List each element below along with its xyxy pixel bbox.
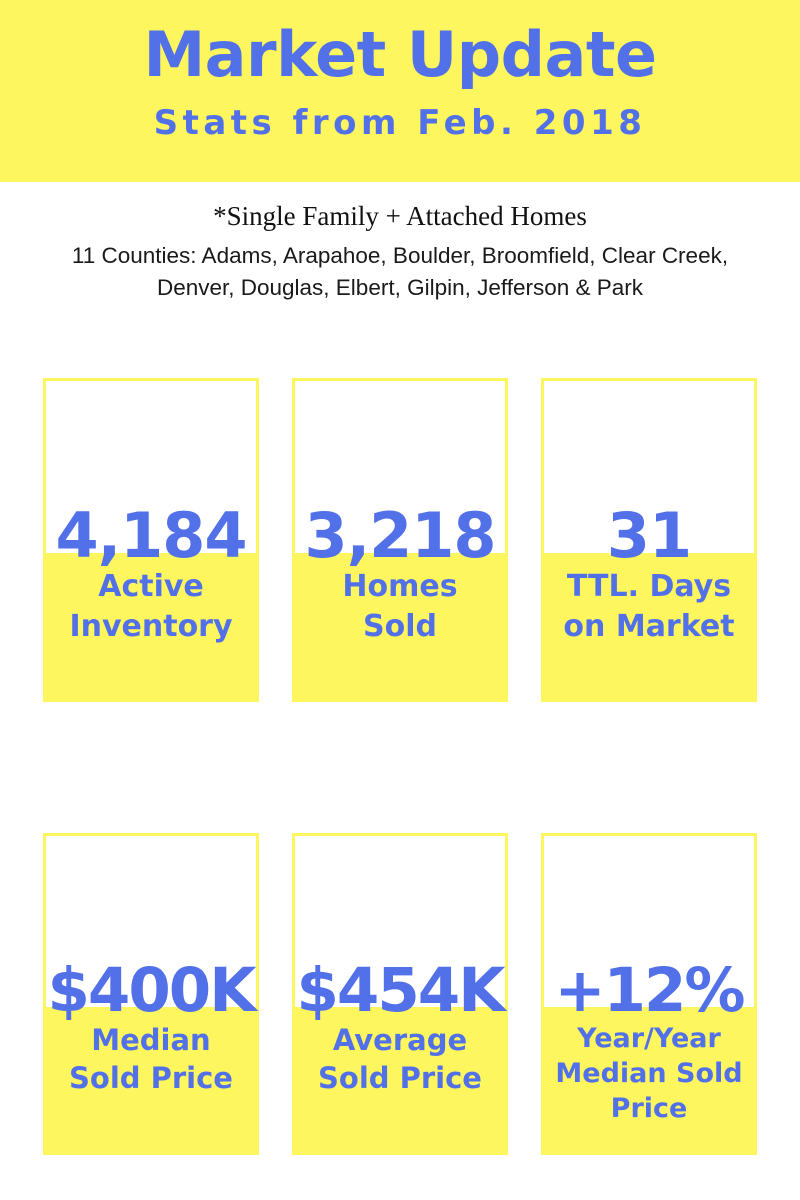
spacer-left xyxy=(0,378,43,702)
counties-note: 11 Counties: Adams, Arapahoe, Boulder, B… xyxy=(60,240,740,304)
spacer-right xyxy=(757,833,800,1155)
header-band: Market Update Stats from Feb. 2018 xyxy=(0,0,800,182)
stat-value-days-on-market: 31 xyxy=(607,505,691,567)
stat-label-panel: Median Sold Price xyxy=(43,1007,259,1155)
stat-value-yoy-median-sold-price: +12% xyxy=(554,960,743,1021)
page-subtitle: Stats from Feb. 2018 xyxy=(154,86,647,140)
spacer-middle-2 xyxy=(508,378,541,702)
stat-row-secondary: $400K Median Sold Price $454K Average So… xyxy=(0,833,800,1155)
spacer-left xyxy=(0,833,43,1155)
stat-value-panel: $454K xyxy=(292,833,508,1007)
stat-value-active-inventory: 4,184 xyxy=(55,505,246,567)
stat-row-primary: 4,184 Active Inventory 3,218 Homes Sold … xyxy=(0,378,800,702)
stat-card-days-on-market: 31 TTL. Days on Market xyxy=(541,378,757,702)
stat-value-panel: +12% xyxy=(541,833,757,1007)
stat-card-active-inventory: 4,184 Active Inventory xyxy=(43,378,259,702)
spacer-middle-1 xyxy=(259,378,292,702)
stat-label-median-sold-price: Median Sold Price xyxy=(67,1021,235,1098)
notes-block: *Single Family + Attached Homes 11 Count… xyxy=(0,200,800,304)
stat-value-panel: 4,184 xyxy=(43,378,259,553)
property-types-note: *Single Family + Attached Homes xyxy=(0,200,800,234)
stat-label-panel: TTL. Days on Market xyxy=(541,553,757,702)
stat-label-panel: Active Inventory xyxy=(43,553,259,702)
stat-label-days-on-market: TTL. Days on Market xyxy=(561,567,736,646)
stat-label-active-inventory: Active Inventory xyxy=(67,567,234,646)
stat-card-yoy-median-sold-price: +12% Year/Year Median Sold Price xyxy=(541,833,757,1155)
spacer-right xyxy=(757,378,800,702)
stat-value-panel: 31 xyxy=(541,378,757,553)
spacer-middle-1 xyxy=(259,833,292,1155)
page-title: Market Update xyxy=(143,24,656,86)
spacer-middle-2 xyxy=(508,833,541,1155)
stat-value-homes-sold: 3,218 xyxy=(304,505,495,567)
stat-label-panel: Average Sold Price xyxy=(292,1007,508,1155)
stat-card-average-sold-price: $454K Average Sold Price xyxy=(292,833,508,1155)
stat-label-panel: Year/Year Median Sold Price xyxy=(541,1007,757,1155)
stat-label-homes-sold: Homes Sold xyxy=(340,567,459,646)
stat-label-average-sold-price: Average Sold Price xyxy=(316,1021,484,1098)
stat-label-yoy-median-sold-price: Year/Year Median Sold Price xyxy=(553,1021,744,1126)
stat-value-median-sold-price: $400K xyxy=(47,960,254,1021)
stat-value-average-sold-price: $454K xyxy=(296,960,503,1021)
stat-value-panel: $400K xyxy=(43,833,259,1007)
stat-card-homes-sold: 3,218 Homes Sold xyxy=(292,378,508,702)
stat-label-panel: Homes Sold xyxy=(292,553,508,702)
stat-value-panel: 3,218 xyxy=(292,378,508,553)
stat-card-median-sold-price: $400K Median Sold Price xyxy=(43,833,259,1155)
